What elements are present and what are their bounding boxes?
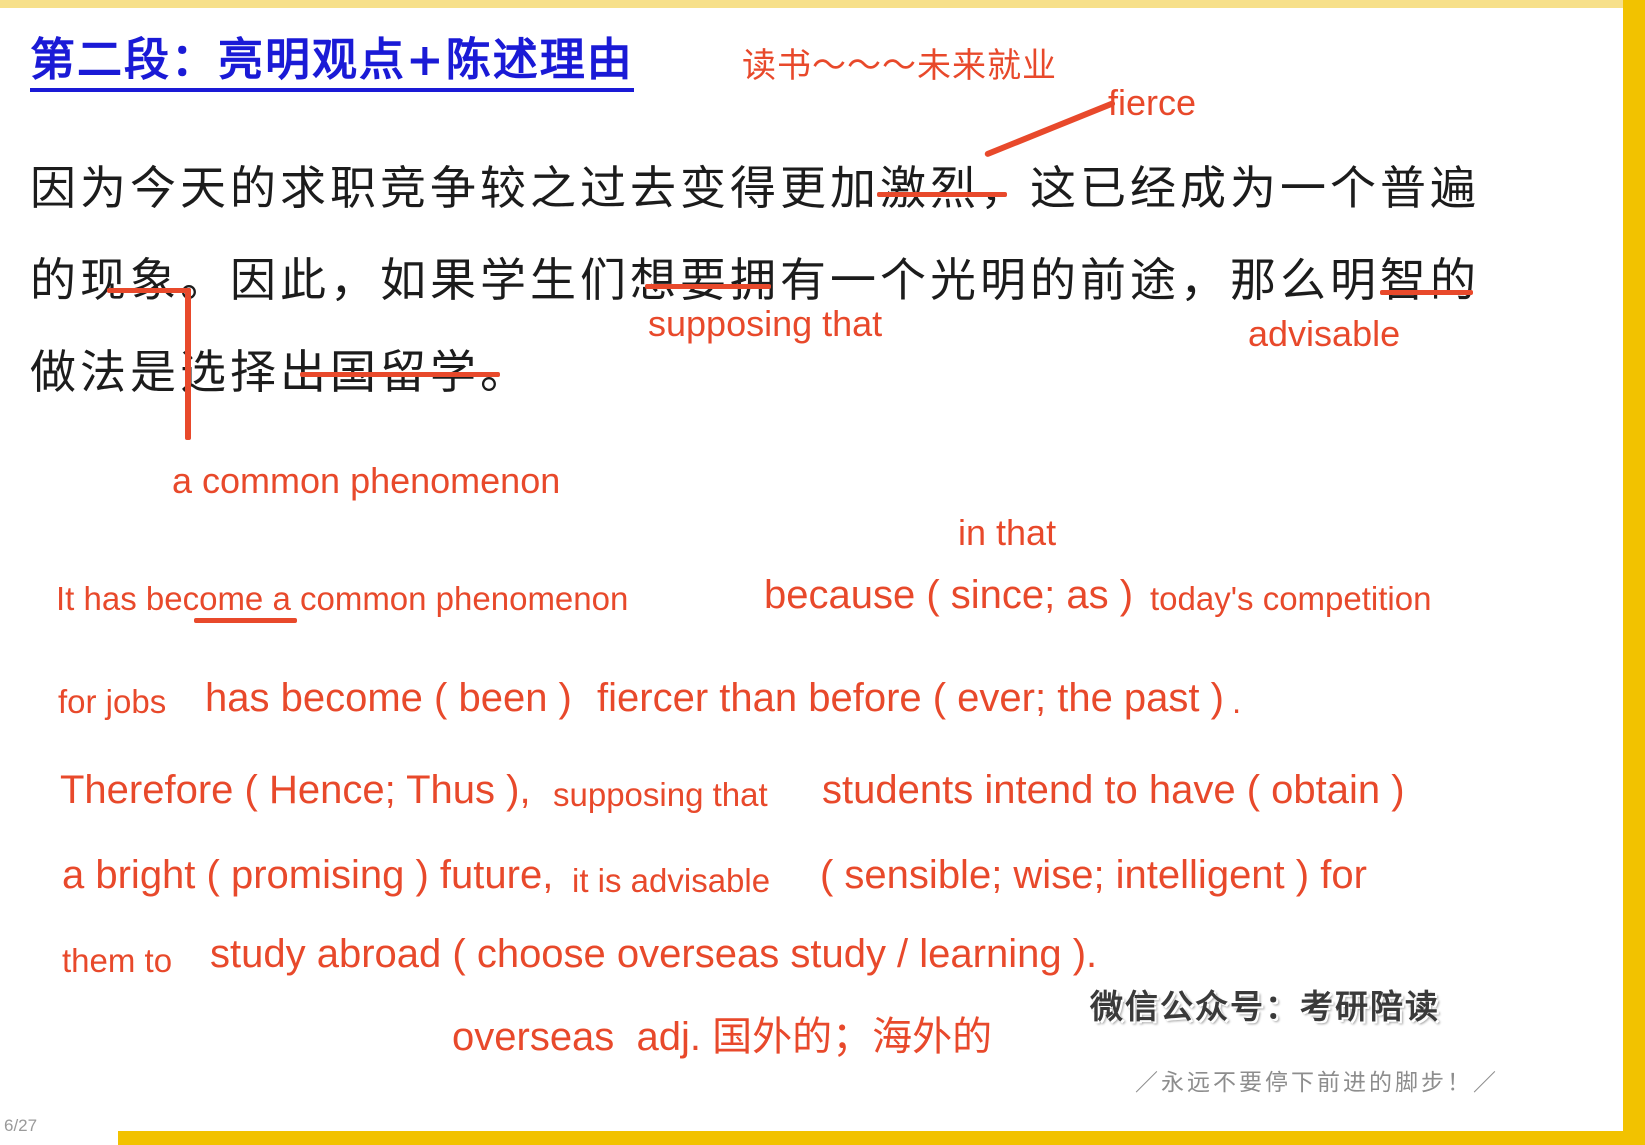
english-line1-part2: because ( since; as ) [764,573,1133,618]
window-frame-right [1623,0,1645,1145]
english-line3-part1: Therefore ( Hence; Thus ), [60,768,531,813]
english-line3-part2: supposing that [553,776,768,814]
underline-jilie [877,192,1007,197]
top-annotation-note: 读书～～～未来就业 [742,38,1057,87]
english-line2-part1: for jobs [58,683,166,721]
english-line1-part3: today's competition [1150,580,1431,618]
watermark-tagline: ／永远不要停下前进的脚步！／ [1135,1063,1499,1097]
underline-chuguoliuxue [300,372,500,377]
callout-a-common-phenomenon: a common phenomenon [172,460,560,502]
window-frame-bottom-gap [0,1131,118,1145]
bracket-vertical-phenomenon [185,288,191,440]
english-line5-part2: study abroad ( choose overseas study / l… [210,932,1097,977]
english-line2-part3: fiercer than before ( ever; the past ) [597,676,1224,721]
english-line4-part2: it is advisable [572,862,770,900]
window-frame-top [0,0,1645,8]
window-frame-bottom [0,1131,1645,1145]
watermark-account-name: 微信公众号：考研陪读 [1090,980,1440,1028]
english-line1-part1: It has become a common phenomenon [56,580,628,618]
english-line2-part2: has become ( been ) [205,676,572,721]
callout-advisable: advisable [1248,313,1400,355]
chinese-paragraph-line-1: 因为今天的求职竞争较之过去变得更加激烈，这已经成为一个普遍 [30,142,1480,234]
underline-xiangyao [645,284,771,289]
english-line4-part1: a bright ( promising ) future, [62,853,553,898]
underline-become [194,618,297,623]
callout-fierce: fierce [1108,82,1196,124]
section-title: 第二段：亮明观点+陈述理由 [30,36,634,92]
callout-supposing-that: supposing that [648,303,882,345]
english-line2-period: . [1232,683,1241,721]
english-line4-part3: ( sensible; wise; intelligent ) for [820,853,1367,898]
bracket-horizontal-phenomenon [107,288,191,293]
slide-canvas: 第二段：亮明观点+陈述理由 读书～～～未来就业 fierce 因为今天的求职竞争… [0,0,1645,1145]
vocab-note-overseas: overseas adj. 国外的；海外的 [452,1004,992,1062]
callout-in-that: in that [958,512,1056,554]
english-line5-part1: them to [62,942,172,980]
underline-zhi [1380,290,1473,295]
english-line3-part3: students intend to have ( obtain ) [822,768,1405,813]
